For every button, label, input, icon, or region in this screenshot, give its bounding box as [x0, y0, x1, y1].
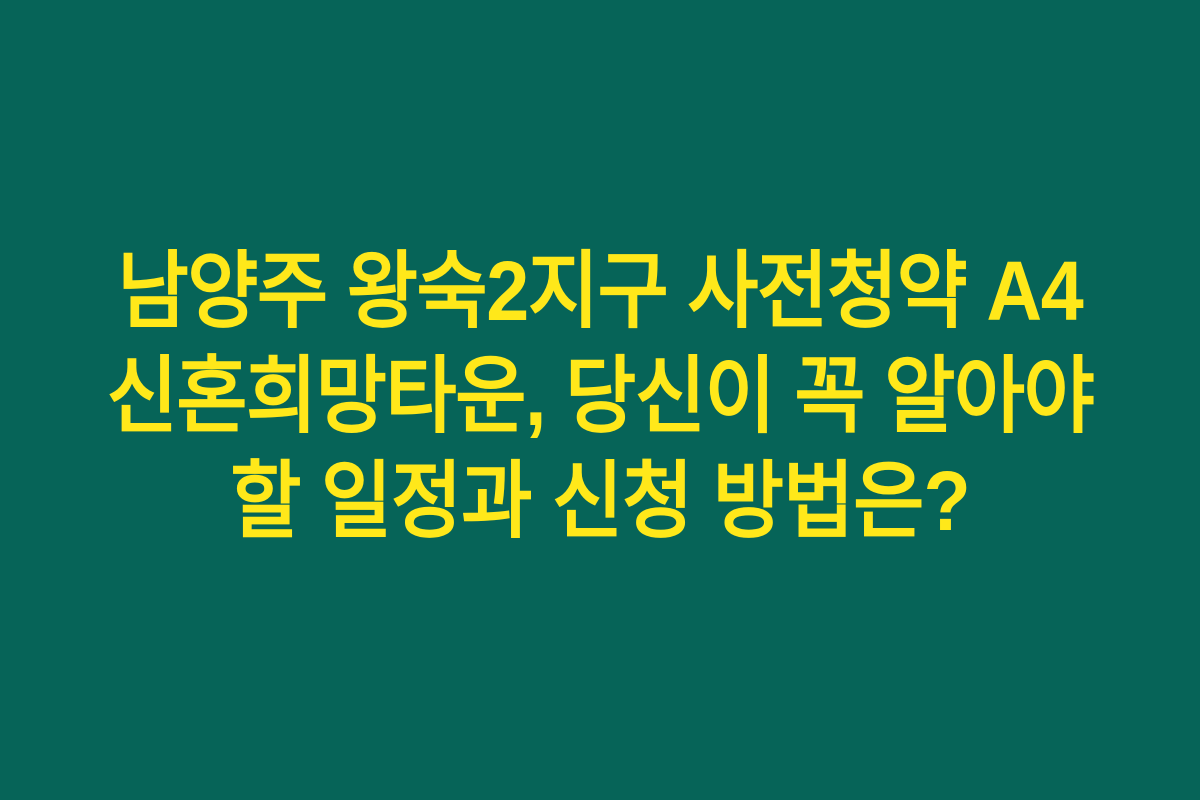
headline-line-1: 남양주 왕숙2지구 사전청약 A4	[76, 239, 1125, 344]
headline-block: 남양주 왕숙2지구 사전청약 A4 신혼희망타운, 당신이 꼭 알아야 할 일정…	[30, 239, 1170, 554]
headline-line-3: 할 일정과 신청 방법은?	[76, 449, 1125, 554]
headline-line-2: 신혼희망타운, 당신이 꼭 알아야	[76, 344, 1125, 449]
thumbnail-card: 남양주 왕숙2지구 사전청약 A4 신혼희망타운, 당신이 꼭 알아야 할 일정…	[0, 0, 1200, 800]
